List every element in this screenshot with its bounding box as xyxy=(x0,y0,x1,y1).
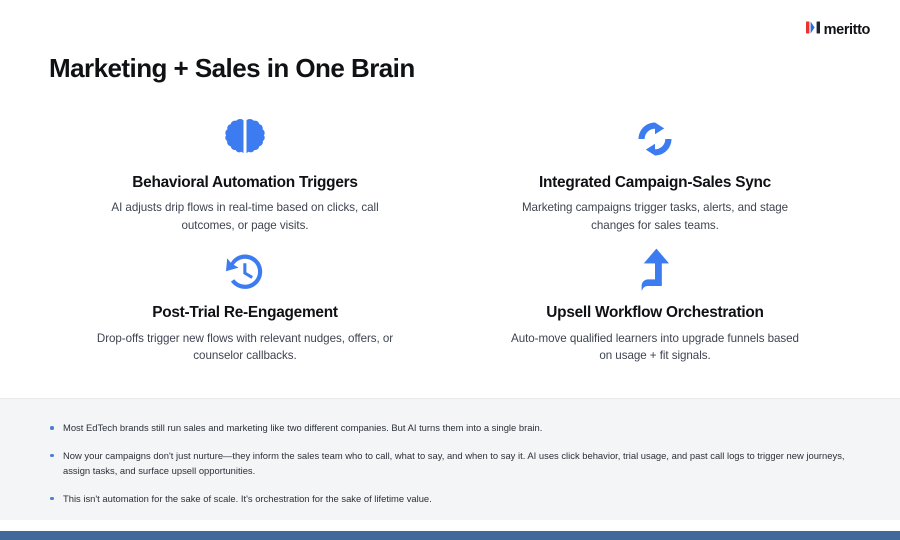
feature-title: Behavioral Automation Triggers xyxy=(57,173,433,192)
feature-grid: Behavioral Automation Triggers AI adjust… xyxy=(49,115,851,365)
page-title: Marketing + Sales in One Brain xyxy=(49,53,415,84)
feature-card-upsell-workflow-orchestration: Upsell Workflow Orchestration Auto-move … xyxy=(459,245,851,364)
feature-card-post-trial-re-engagement: Post-Trial Re-Engagement Drop-offs trigg… xyxy=(49,245,441,364)
bottom-accent-bar xyxy=(0,531,900,540)
summary-panel: Most EdTech brands still run sales and m… xyxy=(0,398,900,520)
feature-card-behavioral-automation-triggers: Behavioral Automation Triggers AI adjust… xyxy=(49,115,441,234)
meritto-logo-mark-icon xyxy=(806,21,821,39)
feature-description: Drop-offs trigger new flows with relevan… xyxy=(95,330,395,365)
footer-spacer xyxy=(0,520,900,531)
list-item: This isn't automation for the sake of sc… xyxy=(48,492,858,507)
brain-icon xyxy=(57,115,433,163)
feature-title: Upsell Workflow Orchestration xyxy=(467,303,843,322)
arrow-up-elbow-icon xyxy=(467,245,843,293)
feature-title: Post-Trial Re-Engagement xyxy=(57,303,433,322)
brand-logo: meritto xyxy=(806,21,870,39)
feature-card-integrated-campaign-sales-sync: Integrated Campaign-Sales Sync Marketing… xyxy=(459,115,851,234)
feature-description: AI adjusts drip flows in real-time based… xyxy=(95,199,395,234)
feature-description: Marketing campaigns trigger tasks, alert… xyxy=(505,199,805,234)
feature-description: Auto-move qualified learners into upgrad… xyxy=(505,330,805,365)
feature-title: Integrated Campaign-Sales Sync xyxy=(467,173,843,192)
brand-name: meritto xyxy=(824,23,870,38)
history-clock-icon xyxy=(57,245,433,293)
list-item: Now your campaigns don't just nurture—th… xyxy=(48,449,858,479)
sync-refresh-icon xyxy=(467,115,843,163)
summary-bullet-list: Most EdTech brands still run sales and m… xyxy=(48,421,858,506)
list-item: Most EdTech brands still run sales and m… xyxy=(48,421,858,436)
